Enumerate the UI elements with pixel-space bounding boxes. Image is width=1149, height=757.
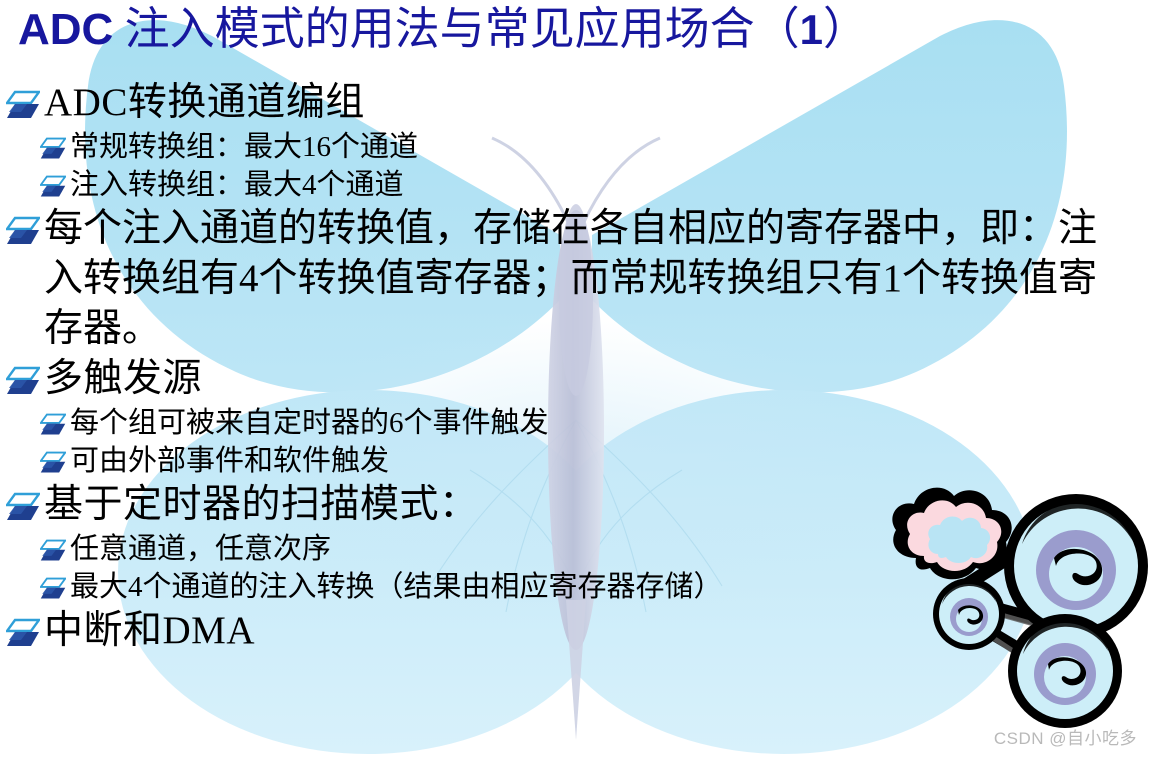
parallelogram-bullet-icon: [40, 413, 66, 436]
parallelogram-bullet-icon: [40, 175, 66, 198]
bullet-text: 每个组可被来自定时器的6个事件触发: [70, 404, 549, 442]
bullet-text: 最大4个通道的注入转换（结果由相应寄存器存储）: [70, 568, 723, 606]
parallelogram-bullet-icon: [40, 137, 66, 160]
bullet-text: 多触发源: [44, 354, 202, 404]
title-latin-prefix: ADC: [18, 5, 113, 54]
csdn-watermark: CSDN @自小吃多: [994, 724, 1137, 749]
title-cjk-suffix: ）: [823, 4, 868, 54]
bullet-text: 注入转换组：最大4个通道: [70, 166, 404, 204]
bullet-text: 基于定时器的扫描模式：: [44, 480, 479, 530]
bullet-item: 注入转换组：最大4个通道: [40, 166, 1149, 204]
parallelogram-bullet-icon: [6, 618, 40, 648]
bullet-text: 中断和DMA: [44, 606, 255, 656]
bullet-item: 每个组可被来自定时器的6个事件触发: [40, 404, 1149, 442]
parallelogram-bullet-icon: [6, 366, 40, 396]
title-number: 1: [800, 6, 823, 53]
title-cjk-main: 注入模式的用法与常见应用场合（: [113, 4, 799, 54]
bullet-text: 常规转换组：最大16个通道: [70, 128, 418, 166]
parallelogram-bullet-icon: [40, 539, 66, 562]
pulley-bottom: [1008, 614, 1122, 728]
slide-canvas: ADC 注入模式的用法与常见应用场合（1） ADC转换通道编组常规转换组：最大1…: [0, 0, 1149, 757]
pulley-gears-clipart: [880, 462, 1149, 730]
bullet-item: 多触发源: [6, 354, 1149, 404]
parallelogram-bullet-icon: [6, 216, 40, 246]
parallelogram-bullet-icon: [40, 577, 66, 600]
bullet-item: 每个注入通道的转换值，存储在各自相应的寄存器中，即：注入转换组有4个转换值寄存器…: [6, 204, 1149, 354]
bullet-text: 每个注入通道的转换值，存储在各自相应的寄存器中，即：注入转换组有4个转换值寄存器…: [44, 204, 1134, 354]
pulley-small: [933, 578, 1005, 650]
bullet-text: 可由外部事件和软件触发: [70, 442, 389, 480]
bullet-item: ADC转换通道编组: [6, 78, 1149, 128]
parallelogram-bullet-icon: [6, 90, 40, 120]
parallelogram-bullet-icon: [40, 451, 66, 474]
slide-title: ADC 注入模式的用法与常见应用场合（1）: [18, 2, 1138, 58]
bullet-item: 常规转换组：最大16个通道: [40, 128, 1149, 166]
parallelogram-bullet-icon: [6, 492, 40, 522]
bullet-text: ADC转换通道编组: [44, 78, 365, 128]
bullet-text: 任意通道，任意次序: [70, 530, 331, 568]
